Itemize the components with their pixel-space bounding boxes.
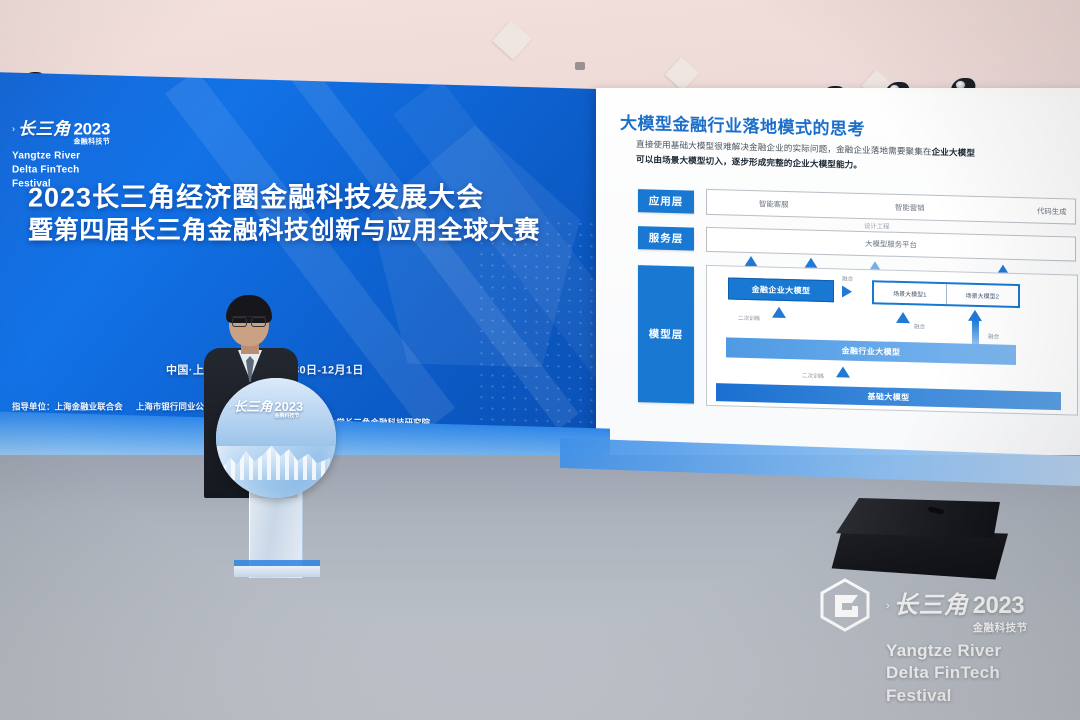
application-layer-box: 智能客服 智能营销 代码生成	[706, 189, 1076, 225]
scene-model-0: 场景大模型1	[874, 282, 947, 304]
up-arrow-icon	[836, 366, 850, 377]
app-item-1: 智能营销	[895, 201, 925, 213]
podium-logo-cn-sub: 金融科技节	[274, 414, 303, 419]
podium-logo-cn: 长三角	[233, 400, 272, 413]
chevron-right-icon: ›	[12, 121, 15, 138]
chevron-right-icon: ›	[229, 400, 231, 413]
hexagon-mark-icon	[818, 578, 872, 632]
stage-monitor-speaker	[828, 498, 1008, 584]
monitor-top-face	[836, 498, 1000, 538]
slide-float-note: 设计工程	[864, 221, 890, 231]
watermark-logo: › 长三角 2023 金融科技节 Yangtze River Delta Fin…	[818, 578, 1068, 706]
layer-label-application: 应用层	[638, 189, 694, 213]
podium-logo-year: 2023	[274, 400, 303, 413]
podium-base	[234, 566, 320, 577]
watermark-en-2: Delta FinTech	[886, 662, 1071, 684]
chevron-right-icon: ›	[886, 594, 890, 618]
watermark-en-1: Yangtze River	[886, 640, 1071, 662]
glasses-icon	[232, 316, 266, 324]
event-title-line2: 暨第四届长三角金融科技创新与应用全球大赛	[28, 215, 588, 248]
arrow-stem	[972, 320, 979, 346]
app-item-0: 智能客服	[759, 198, 789, 210]
service-platform-box: 大模型服务平台	[706, 227, 1076, 262]
app-item-2: 代码生成	[1037, 205, 1067, 217]
podium-logo: › 长三角 2023 金融科技节	[229, 400, 325, 419]
slide-title: 大模型金融行业落地模式的思考	[620, 109, 865, 140]
conference-stage-photo: › 长三角 2023 金融科技节 Yangtze River Delta Fin…	[0, 0, 1080, 720]
up-arrow-icon	[772, 307, 786, 318]
arrow-label-fusion-a: 融合	[842, 274, 853, 282]
watermark-cn: 长三角	[894, 594, 969, 618]
watermark-cn-sub: 金融科技节	[973, 620, 1028, 635]
festival-logo-en-1: Yangtze River	[12, 150, 142, 164]
organizer-name: 上海金融业联合会	[55, 402, 123, 412]
watermark-year: 2023	[973, 594, 1028, 618]
layer-label-service: 服务层	[638, 226, 694, 250]
festival-logo-cn-sub: 金融科技节	[74, 139, 111, 146]
podium: › 长三角 2023 金融科技节	[216, 378, 336, 578]
up-arrow-icon	[896, 312, 910, 323]
podium-logo-disc: › 长三角 2023 金融科技节	[216, 378, 336, 498]
layer-label-model: 模型层	[638, 265, 694, 403]
festival-logo-year: 2023	[74, 121, 111, 138]
watermark-en-3: Festival	[886, 685, 1071, 707]
monitor-handle-slot	[928, 506, 945, 515]
slide-body: 直接使用基础大模型很难解决金融企业的实际问题，金融企业落地需要聚集在企业大模型 …	[636, 137, 1080, 179]
arrow-label-fusion-c: 融合	[988, 332, 999, 340]
slide-body-line2: 可以由场景大模型切入，逐步形成完整的企业大模型能力。	[636, 152, 1080, 179]
arrow-label-secondary-a: 二次训练	[738, 314, 760, 323]
organizer-role: 指导单位：	[12, 402, 55, 412]
event-title: 2023长三角经济圈金融科技发展大会 暨第四届长三角金融科技创新与应用全球大赛	[28, 181, 588, 248]
slide-body-line1-strong: 企业大模型	[932, 147, 975, 158]
festival-logo-cn: 长三角	[18, 121, 71, 138]
slide-content: 大模型金融行业落地模式的思考 直接使用基础大模型很难解决金融企业的实际问题，金融…	[596, 88, 1080, 470]
model-enterprise-box: 金融企业大模型	[728, 277, 834, 302]
festival-logo-en-2: Delta FinTech	[12, 163, 142, 177]
scene-model-1: 场景大模型2	[947, 284, 1019, 306]
right-arrow-icon	[842, 285, 852, 297]
arrow-label-secondary-b: 二次训练	[802, 371, 824, 380]
watermark-text: › 长三角 2023 金融科技节 Yangtze River Delta Fin…	[886, 594, 1071, 707]
event-title-line1: 2023长三角经济圈金融科技发展大会	[28, 181, 588, 215]
scene-model-group: 场景大模型1 场景大模型2	[872, 280, 1020, 308]
projection-screen: 大模型金融行业落地模式的思考 直接使用基础大模型很难解决金融企业的实际问题，金融…	[596, 88, 1080, 470]
arrow-label-fusion-b: 融合	[914, 322, 925, 330]
